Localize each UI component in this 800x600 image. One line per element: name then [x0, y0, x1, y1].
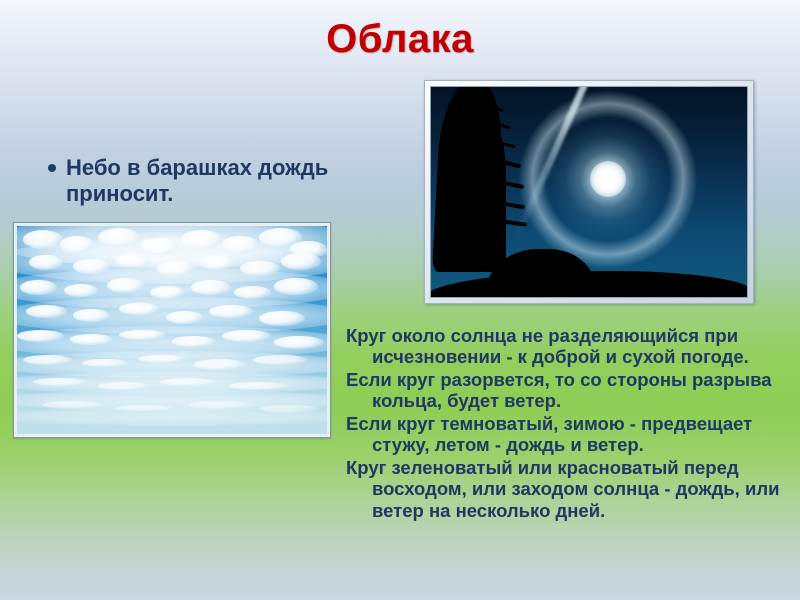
- weather-omens-list: Круг около солнца не разделяющийся при и…: [346, 325, 784, 522]
- omen-paragraph: Если круг разорвется, то со стороны разр…: [346, 369, 784, 412]
- sun-halo-photo: [424, 80, 754, 304]
- clouds-photo-canvas: [17, 226, 327, 434]
- omen-paragraph: Если круг темноватый, зимою - предвещает…: [346, 413, 784, 456]
- bullet-dot-icon: [48, 164, 56, 172]
- altocumulus-clouds-photo: [13, 222, 331, 438]
- omen-paragraph: Круг зеленоватый или красноватый перед в…: [346, 457, 784, 521]
- omen-paragraph: Круг около солнца не разделяющийся при и…: [346, 325, 784, 368]
- slide-title: Облака: [0, 18, 800, 60]
- bullet-item-label: Небо в барашках дождь приносит.: [66, 155, 328, 206]
- bullet-item: Небо в барашках дождь приносит.: [44, 155, 334, 207]
- presentation-slide: Облака Небо в барашках дождь приносит.: [0, 0, 800, 600]
- halo-photo-canvas: [430, 86, 748, 298]
- bullet-list: Небо в барашках дождь приносит.: [44, 155, 334, 207]
